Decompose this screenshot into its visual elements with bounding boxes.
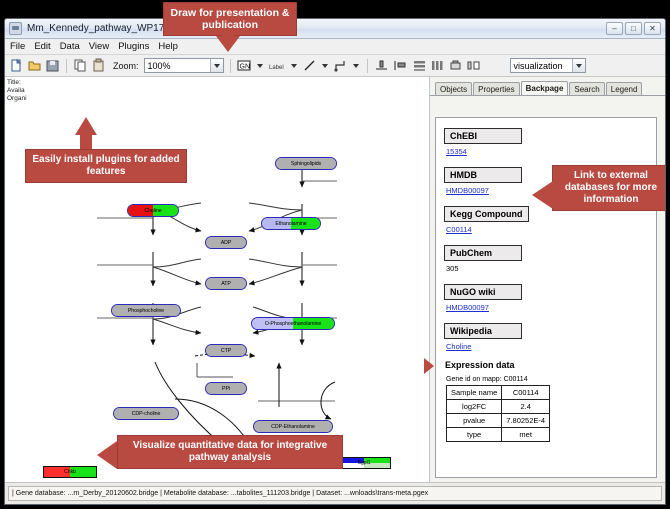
node-label: ATP: [206, 278, 246, 289]
node-label: Sgpl1: [338, 458, 390, 468]
tab-legend[interactable]: Legend: [606, 82, 643, 95]
node-label: Sphingolipids: [276, 158, 336, 169]
cell-value: C00114: [502, 386, 550, 400]
menu-help[interactable]: Help: [158, 41, 178, 52]
draw-callout-arrow-stem: [222, 30, 234, 40]
metabolite-node-ATP[interactable]: ATP: [205, 277, 247, 290]
save-icon[interactable]: [45, 58, 60, 73]
metabolite-node-Phosphocholine[interactable]: Phosphocholine: [111, 304, 181, 317]
gene-id-note: Gene id on mapp: C00114: [446, 376, 656, 383]
backpage-entry-wikipedia: Wikipedia Choline: [444, 321, 656, 351]
node-label: Chkb: [44, 467, 96, 477]
open-icon[interactable]: [27, 58, 42, 73]
node-label: Choline: [128, 205, 178, 216]
backpage-link-kegg[interactable]: C00114: [446, 225, 656, 234]
status-bar: | Gene database: ...m_Derby_20120602.bri…: [5, 482, 665, 504]
metabolite-node-Choline[interactable]: Choline: [127, 204, 179, 217]
node-label: CDP-choline: [114, 408, 178, 419]
label-dropdown-icon[interactable]: [291, 64, 297, 68]
backpage-entry-chebi: ChEBI 15354: [444, 126, 656, 156]
node-label: Phosphocholine: [112, 305, 180, 316]
backpage-link-nugo[interactable]: HMDB00097: [446, 303, 656, 312]
metabolite-node-CTP[interactable]: CTP: [205, 344, 247, 357]
backpage-head-nugo: NuGO wiki: [444, 284, 522, 300]
node-label: CTP: [206, 345, 246, 356]
menu-view[interactable]: View: [89, 41, 109, 52]
window-controls[interactable]: – □ ✕: [606, 22, 661, 35]
tab-properties[interactable]: Properties: [473, 82, 519, 95]
status-text: | Gene database: ...m_Derby_20120602.bri…: [8, 486, 662, 501]
menu-data[interactable]: Data: [60, 41, 80, 52]
plugins-callout: Easily install plugins for added feature…: [25, 149, 187, 183]
pathway-canvas[interactable]: Title: Availa Organi: [5, 77, 430, 482]
svg-text:GN: GN: [239, 64, 250, 71]
metabolite-node-Ethanolamine-top[interactable]: Ethanolamine: [261, 217, 321, 230]
metabolite-node-ADP[interactable]: ADP: [205, 236, 247, 249]
backpage-value-pubchem: 305: [446, 264, 656, 273]
cell-value: 7.80252E-4: [502, 414, 550, 428]
datanode-tool-icon[interactable]: GN: [237, 58, 252, 73]
cell-value: 2.4: [502, 400, 550, 414]
label-tool-icon[interactable]: Label: [268, 58, 286, 73]
metabolite-node-PPi[interactable]: PPi: [205, 382, 247, 395]
links-callout-text: Link to external databases for more info…: [553, 166, 666, 210]
backpage-head-pubchem: PubChem: [444, 245, 522, 261]
visualize-callout: Visualize quantitative data for integrat…: [117, 435, 343, 469]
table-row: log2FC2.4: [447, 400, 550, 414]
visualization-combo[interactable]: visualization: [510, 58, 586, 73]
expression-table: Sample nameC00114 log2FC2.4 pvalue7.8025…: [446, 385, 550, 442]
visualization-chevron-down-icon[interactable]: [572, 59, 585, 72]
node-label: Ethanolamine: [262, 218, 320, 229]
datanode-dropdown-icon[interactable]: [257, 64, 263, 68]
table-row: Sample nameC00114: [447, 386, 550, 400]
content-split: Title: Availa Organi: [5, 77, 665, 482]
tool-bar: Zoom: 100% GN Label visualization: [5, 55, 665, 77]
node-label: O-Phosphoethanolamine: [252, 318, 334, 329]
backpage-entry-nugo: NuGO wiki HMDB00097: [444, 282, 656, 312]
paste-icon[interactable]: [91, 58, 106, 73]
cell-key: pvalue: [447, 414, 502, 428]
connector-dropdown-icon[interactable]: [353, 64, 359, 68]
metabolite-node-O-Phosphoethanolamine[interactable]: O-Phosphoethanolamine: [251, 317, 335, 330]
ungroup-icon[interactable]: [466, 58, 481, 73]
zoom-label: Zoom:: [113, 61, 139, 71]
side-panel-tabs: Objects Properties Backpage Search Legen…: [430, 81, 665, 96]
app-icon: [9, 22, 22, 35]
table-row: pvalue7.80252E-4: [447, 414, 550, 428]
maximize-button[interactable]: □: [625, 22, 642, 35]
align-stacked-icon[interactable]: [412, 58, 427, 73]
align-columns-icon[interactable]: [430, 58, 445, 73]
menu-edit[interactable]: Edit: [34, 41, 50, 52]
pathvisio-window: Mm_Kennedy_pathway_WP1771_45176.gpml – □…: [4, 18, 666, 505]
plugins-callout-text: Easily install plugins for added feature…: [26, 150, 186, 182]
toolbar-separator: [66, 59, 67, 73]
group-icon[interactable]: [448, 58, 463, 73]
expression-data-title: Expression data: [445, 360, 656, 370]
node-label: CDP-Ethanolamine: [254, 421, 332, 432]
visualization-value: visualization: [514, 61, 563, 71]
plugins-callout-arrow: [75, 117, 97, 135]
align-top-icon[interactable]: [374, 58, 389, 73]
gene-node-Chkb[interactable]: Chkb: [43, 466, 97, 478]
toolbar-separator-2: [230, 59, 231, 73]
node-label: PPi: [206, 383, 246, 394]
visualize-callout-text: Visualize quantitative data for integrat…: [118, 436, 342, 468]
metabolite-node-Sphingolipids[interactable]: Sphingolipids: [275, 157, 337, 170]
expression-pointer-arrow: [424, 358, 434, 374]
gene-node-Sgpl1[interactable]: Sgpl1: [337, 457, 391, 469]
toolbar-separator-3: [367, 59, 368, 73]
backpage-head-chebi: ChEBI: [444, 128, 522, 144]
backpage-head-kegg: Kegg Compound: [444, 206, 529, 222]
backpage-head-wikipedia: Wikipedia: [444, 323, 522, 339]
align-left-icon[interactable]: [392, 58, 409, 73]
tab-search[interactable]: Search: [569, 82, 604, 95]
line-tool-icon[interactable]: [302, 58, 317, 73]
backpage-link-wikipedia[interactable]: Choline: [446, 342, 656, 351]
minimize-button[interactable]: –: [606, 22, 623, 35]
connector-tool-icon[interactable]: [333, 58, 348, 73]
metabolite-node-CDP-choline[interactable]: CDP-choline: [113, 407, 179, 420]
backpage-entry-pubchem: PubChem 305: [444, 243, 656, 273]
chevron-down-icon[interactable]: [210, 59, 223, 72]
metabolite-node-CDP-Ethanolamine[interactable]: CDP-Ethanolamine: [253, 420, 333, 433]
cell-key: type: [447, 428, 502, 442]
links-callout: Link to external databases for more info…: [552, 165, 666, 211]
close-button[interactable]: ✕: [644, 22, 661, 35]
cell-key: Sample name: [447, 386, 502, 400]
new-icon[interactable]: [9, 58, 24, 73]
cell-value: met: [502, 428, 550, 442]
line-dropdown-icon[interactable]: [322, 64, 328, 68]
tab-backpage[interactable]: Backpage: [521, 81, 569, 95]
menu-file[interactable]: File: [10, 41, 25, 52]
backpage-link-chebi[interactable]: 15354: [446, 147, 656, 156]
visualize-callout-arrow: [97, 441, 117, 469]
visualization-combo-wrap: visualization: [510, 58, 586, 73]
links-callout-arrow: [532, 181, 553, 209]
table-row: typemet: [447, 428, 550, 442]
cell-key: log2FC: [447, 400, 502, 414]
zoom-value: 100%: [148, 61, 171, 71]
side-panel: Objects Properties Backpage Search Legen…: [430, 77, 665, 482]
menu-plugins[interactable]: Plugins: [118, 41, 149, 52]
tab-objects[interactable]: Objects: [435, 82, 472, 95]
svg-text:Label: Label: [269, 65, 284, 71]
title-bar: Mm_Kennedy_pathway_WP1771_45176.gpml – □…: [5, 19, 665, 39]
node-label: ADP: [206, 237, 246, 248]
backpage-head-hmdb: HMDB: [444, 167, 522, 183]
zoom-combo[interactable]: 100%: [144, 58, 224, 73]
copy-icon[interactable]: [73, 58, 88, 73]
menu-bar: File Edit Data View Plugins Help: [5, 39, 665, 55]
